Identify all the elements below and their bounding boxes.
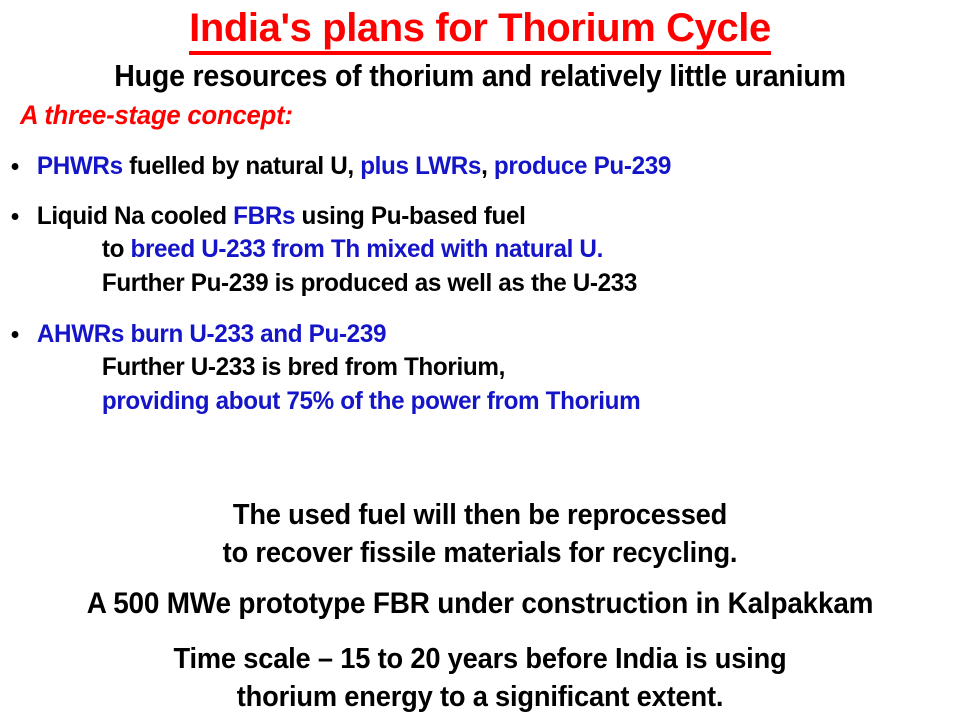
timescale-note-line-1: Time scale – 15 to 20 years before India… — [29, 640, 931, 678]
bullet-dot-icon — [12, 331, 19, 338]
sub-line: to breed U-233 from Th mixed with natura… — [0, 232, 931, 266]
text-run: fuelled by natural U, — [129, 152, 360, 180]
page-title: India's plans for Thorium Cycle — [189, 6, 771, 55]
timescale-note: Time scale – 15 to 20 years before India… — [0, 640, 960, 716]
text-run: , — [481, 152, 494, 180]
text-run: AHWRs burn U-233 and Pu-239 — [37, 320, 386, 348]
text-run: Further U-233 is bred from Thorium, — [102, 353, 505, 381]
text-run: produce Pu-239 — [494, 152, 671, 180]
title-block: India's plans for Thorium Cycle — [0, 6, 960, 55]
text-run: using Pu-based fuel — [302, 202, 526, 230]
reprocessing-note-line-2: to recover fissile materials for recycli… — [29, 534, 931, 572]
text-run: Liquid Na cooled — [37, 202, 233, 230]
prototype-note: A 500 MWe prototype FBR under constructi… — [0, 586, 960, 622]
text-run: FBRs — [233, 202, 301, 230]
stage-group-1: PHWRs fuelled by natural U, plus LWRs, p… — [0, 150, 960, 182]
stage-group-2: Liquid Na cooled FBRs using Pu-based fue… — [0, 200, 960, 300]
bullet-item: AHWRs burn U-233 and Pu-239 — [0, 318, 931, 350]
timescale-note-line-2: thorium energy to a significant extent. — [29, 678, 931, 716]
bullet-item: Liquid Na cooled FBRs using Pu-based fue… — [0, 200, 931, 232]
text-run: providing about 75% of the power from Th… — [102, 387, 640, 415]
reprocessing-note: The used fuel will then be reprocessed t… — [0, 496, 960, 572]
stage-group-3: AHWRs burn U-233 and Pu-239 Further U-23… — [0, 318, 960, 418]
bullet-item: PHWRs fuelled by natural U, plus LWRs, p… — [0, 150, 931, 182]
text-run: PHWRs — [37, 152, 129, 180]
text-run: plus LWRs — [360, 152, 481, 180]
sub-line: providing about 75% of the power from Th… — [0, 384, 931, 418]
slide-canvas: India's plans for Thorium Cycle Huge res… — [0, 0, 960, 720]
stages-list: PHWRs fuelled by natural U, plus LWRs, p… — [0, 150, 960, 436]
sub-line: Further U-233 is bred from Thorium, — [0, 350, 931, 384]
prototype-note-line-1: A 500 MWe prototype FBR under constructi… — [34, 586, 927, 622]
text-run: to — [102, 235, 131, 263]
text-run: Further Pu-239 is produced as well as th… — [102, 269, 637, 297]
bullet-dot-icon — [12, 163, 19, 170]
text-run: breed U-233 from Th mixed with natural U… — [130, 235, 603, 263]
sub-line: Further Pu-239 is produced as well as th… — [0, 266, 931, 300]
slide-subtitle: Huge resources of thorium and relatively… — [38, 58, 921, 94]
reprocessing-note-line-1: The used fuel will then be reprocessed — [29, 496, 931, 534]
bullet-dot-icon — [12, 213, 19, 220]
concept-heading: A three-stage concept: — [20, 100, 293, 131]
